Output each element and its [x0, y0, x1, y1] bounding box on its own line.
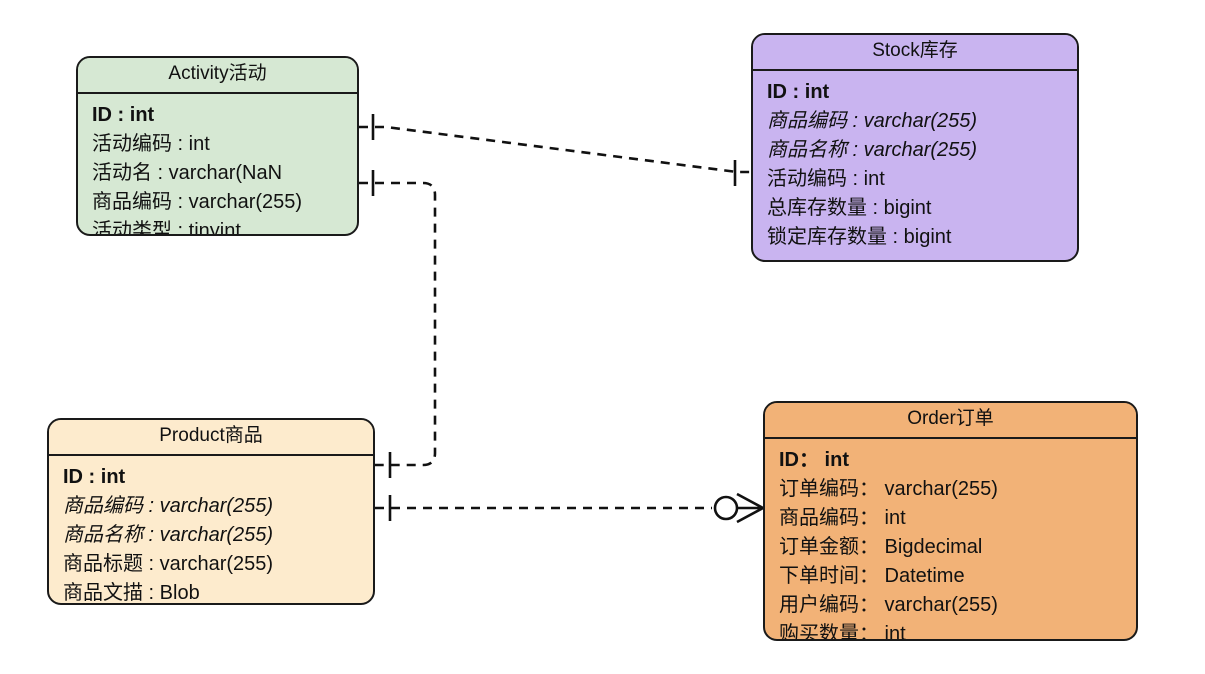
field-row: 商品编码 : varchar(255): [63, 492, 373, 521]
field-row: 锁定库存数量 : bigint: [767, 223, 1077, 252]
field-row: 用户编码： varchar(255): [779, 591, 1136, 620]
field-row: ID： int: [779, 446, 1136, 475]
field-row: 商品编码 : varchar(255): [92, 188, 357, 217]
field-row: 订单编码： varchar(255): [779, 475, 1136, 504]
field-row: 活动编码 : int: [92, 130, 357, 159]
field-row: 商品编码： int: [779, 504, 1136, 533]
entity-order[interactable]: Order订单 ID： int 订单编码： varchar(255) 商品编码：…: [763, 401, 1138, 641]
field-row: 总库存数量 : bigint: [767, 194, 1077, 223]
field-row: ID : int: [767, 78, 1077, 107]
field-row: 商品标题 : varchar(255): [63, 550, 373, 579]
field-row: 商品名称 : varchar(255): [767, 136, 1077, 165]
entity-order-fields: ID： int 订单编码： varchar(255) 商品编码： int 订单金…: [765, 439, 1136, 641]
field-row: 商品名称 : varchar(255): [63, 521, 373, 550]
field-row: 下单时间： Datetime: [779, 562, 1136, 591]
entity-stock[interactable]: Stock库存 ID : int 商品编码 : varchar(255) 商品名…: [751, 33, 1079, 262]
field-row: 订单金额： Bigdecimal: [779, 533, 1136, 562]
entity-product[interactable]: Product商品 ID : int 商品编码 : varchar(255) 商…: [47, 418, 375, 605]
entity-stock-fields: ID : int 商品编码 : varchar(255) 商品名称 : varc…: [753, 71, 1077, 260]
entity-stock-title: Stock库存: [753, 35, 1077, 71]
entity-activity-title: Activity活动: [78, 58, 357, 94]
connector-activity-stock[interactable]: [359, 114, 751, 186]
entity-product-title: Product商品: [49, 420, 373, 456]
entity-activity[interactable]: Activity活动 ID : int 活动编码 : int 活动名 : var…: [76, 56, 359, 236]
field-row: 活动类型 : tinyint: [92, 217, 357, 236]
field-row: ID : int: [92, 101, 357, 130]
entity-order-title: Order订单: [765, 403, 1136, 439]
entity-activity-fields: ID : int 活动编码 : int 活动名 : varchar(NaN 商品…: [78, 94, 357, 236]
er-diagram-canvas: Activity活动 ID : int 活动编码 : int 活动名 : var…: [0, 0, 1205, 674]
connector-product-order[interactable]: [375, 494, 763, 522]
field-row: 活动名 : varchar(NaN: [92, 159, 357, 188]
field-row: 商品编码 : varchar(255): [767, 107, 1077, 136]
field-row: 购买数量： int: [779, 620, 1136, 641]
entity-product-fields: ID : int 商品编码 : varchar(255) 商品名称 : varc…: [49, 456, 373, 605]
field-row: 活动编码 : int: [767, 165, 1077, 194]
field-row: 商品文描 : Blob: [63, 579, 373, 605]
field-row: ID : int: [63, 463, 373, 492]
